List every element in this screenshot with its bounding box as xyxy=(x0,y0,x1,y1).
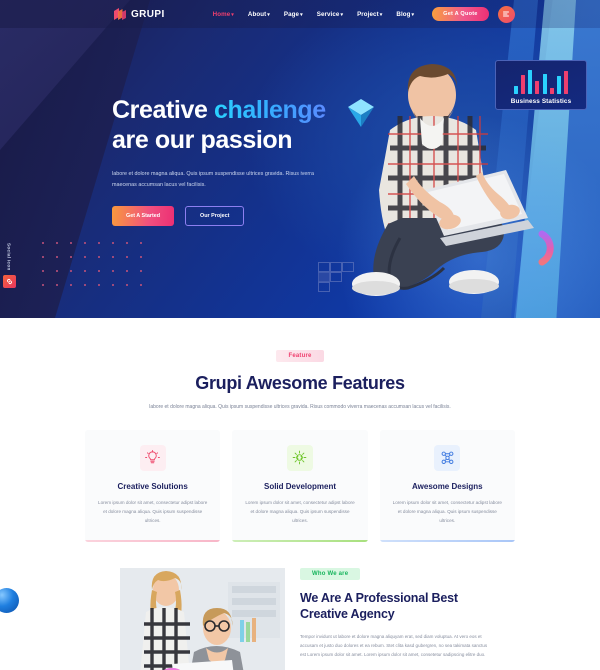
feature-card-solid-development[interactable]: Solid Development Lorem ipsum dolor sit … xyxy=(232,430,367,543)
design-node-icon-wrap xyxy=(434,445,460,471)
feature-card-creative-solutions[interactable]: Creative Solutions Lorem ipsum dolor sit… xyxy=(85,430,220,543)
statistics-label: Business Statistics xyxy=(503,98,579,105)
nav-item-blog[interactable]: Blog▾ xyxy=(396,11,414,18)
design-node-icon xyxy=(440,450,455,465)
about-title-line1: We Are A Professional Best xyxy=(300,591,458,605)
about-title-line2: Creative Agency xyxy=(300,607,395,621)
statistics-bar xyxy=(514,86,518,94)
nav-links: Home▾ About▾ Page▾ Service▾ Project▾ Blo… xyxy=(213,11,414,18)
nav-item-home[interactable]: Home▾ xyxy=(213,11,234,18)
menu-toggle-button[interactable] xyxy=(498,6,515,23)
features-title: Grupi Awesome Features xyxy=(0,373,600,394)
about-title: We Are A Professional Best Creative Agen… xyxy=(300,590,490,622)
about-description: Tempor invidunt ut labore et dolore magn… xyxy=(300,632,490,659)
chevron-down-icon: ▾ xyxy=(412,12,415,18)
statistics-bar xyxy=(521,75,525,94)
nav-item-page[interactable]: Page▾ xyxy=(284,11,303,18)
pyramid-decoration xyxy=(347,98,375,128)
statistics-bar xyxy=(557,76,561,94)
feature-card-desc: Lorem ipsum dolor sit amet, consectetur … xyxy=(245,498,354,526)
hero-title: Creative challenge are our passion xyxy=(112,96,347,155)
feature-card-desc: Lorem ipsum dolor sit amet, consectetur … xyxy=(98,498,207,526)
hero-actions: Get A Started Our Project xyxy=(112,206,347,226)
dot-grid-decoration xyxy=(36,236,148,294)
statistics-bar xyxy=(564,71,568,94)
feature-card-desc: Lorem ipsum dolor sit amet, consectetur … xyxy=(393,498,502,526)
nav-item-service[interactable]: Service▾ xyxy=(317,11,343,18)
statistics-bar xyxy=(535,81,539,94)
brand-logo[interactable]: GRUPI xyxy=(112,7,165,22)
creative-bulb-icon-wrap xyxy=(140,445,166,471)
feature-card-title: Creative Solutions xyxy=(98,482,207,491)
hero-title-accent: challenge xyxy=(214,96,326,124)
hero-copy: Creative challenge are our passion labor… xyxy=(112,96,347,226)
blue-sphere-decoration xyxy=(0,588,19,613)
get-a-quote-button[interactable]: Get A Quote xyxy=(432,7,488,21)
feature-card-title: Solid Development xyxy=(245,482,354,491)
chevron-down-icon: ▾ xyxy=(340,12,343,18)
brand-name: GRUPI xyxy=(131,9,165,20)
social-rail-label: Social Icon xyxy=(7,243,12,271)
nav-item-about[interactable]: About▾ xyxy=(248,11,270,18)
hero-title-part1: Creative xyxy=(112,96,214,124)
statistics-bar-chart xyxy=(503,68,579,94)
features-section: Feature Grupi Awesome Features labore et… xyxy=(0,318,600,542)
social-rail: Social Icon xyxy=(0,243,18,288)
statistics-bar xyxy=(543,74,547,94)
hamburger-menu-icon xyxy=(502,10,510,18)
feature-card-title: Awesome Designs xyxy=(393,482,502,491)
about-copy: Who We are We Are A Professional Best Cr… xyxy=(300,562,490,670)
nav-item-project[interactable]: Project▾ xyxy=(357,11,382,18)
chevron-down-icon: ▾ xyxy=(300,12,303,18)
link-icon xyxy=(6,278,13,285)
feature-badge: Feature xyxy=(276,350,323,362)
creative-bulb-icon xyxy=(145,450,160,465)
hero-title-part2: are our passion xyxy=(112,126,292,154)
statistics-bar xyxy=(550,88,554,94)
hero-subtitle: labore et dolore magna aliqua. Quis ipsu… xyxy=(112,169,322,192)
code-gear-icon-wrap xyxy=(287,445,313,471)
chevron-down-icon: ▾ xyxy=(267,12,270,18)
about-section: Who We are We Are A Professional Best Cr… xyxy=(0,562,600,670)
business-statistics-card: Business Statistics xyxy=(495,60,587,110)
hero-section: GRUPI Home▾ About▾ Page▾ Service▾ Projec… xyxy=(0,0,600,318)
statistics-bar xyxy=(528,70,532,94)
arc-decoration xyxy=(538,230,562,266)
social-link-button[interactable] xyxy=(3,275,16,288)
chevron-down-icon: ▾ xyxy=(380,12,383,18)
chevron-down-icon: ▾ xyxy=(231,12,234,18)
grupi-logo-icon xyxy=(112,7,128,22)
our-project-button[interactable]: Our Project xyxy=(185,206,244,226)
features-subtitle: labore et dolore magna aliqua. Quis ipsu… xyxy=(148,403,453,413)
team-photo-collage xyxy=(100,568,285,670)
code-gear-icon xyxy=(292,450,307,465)
feature-cards: Creative Solutions Lorem ipsum dolor sit… xyxy=(85,430,515,543)
feature-card-awesome-designs[interactable]: Awesome Designs Lorem ipsum dolor sit am… xyxy=(380,430,515,543)
get-a-started-button[interactable]: Get A Started xyxy=(112,206,174,226)
who-we-are-badge: Who We are xyxy=(300,568,360,580)
main-navbar: GRUPI Home▾ About▾ Page▾ Service▾ Projec… xyxy=(0,0,600,28)
